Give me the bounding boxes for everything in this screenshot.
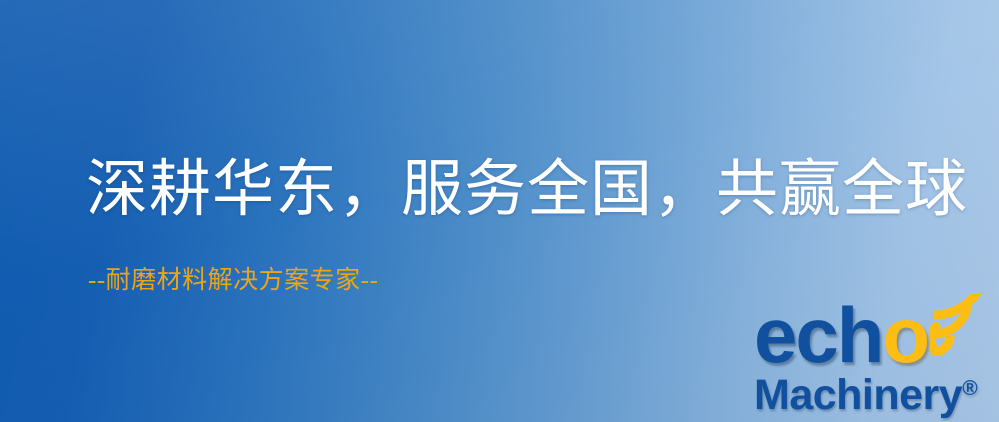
signal-waves-icon — [930, 294, 996, 356]
logo-tagline: Machinery® — [754, 366, 978, 418]
logo-wordmark: echo — [754, 296, 928, 374]
banner-headline: 深耕华东，服务全国，共赢全球 — [86, 152, 968, 228]
echo-machinery-logo[interactable]: echo Machinery® — [748, 296, 999, 422]
registered-trademark-icon: ® — [962, 377, 977, 400]
banner-subtitle: --耐磨材料解决方案专家-- — [88, 266, 378, 296]
logo-tagline-text: Machinery — [754, 371, 962, 419]
promotional-banner: 深耕华东，服务全国，共赢全球 --耐磨材料解决方案专家-- echo Machi… — [0, 0, 999, 422]
